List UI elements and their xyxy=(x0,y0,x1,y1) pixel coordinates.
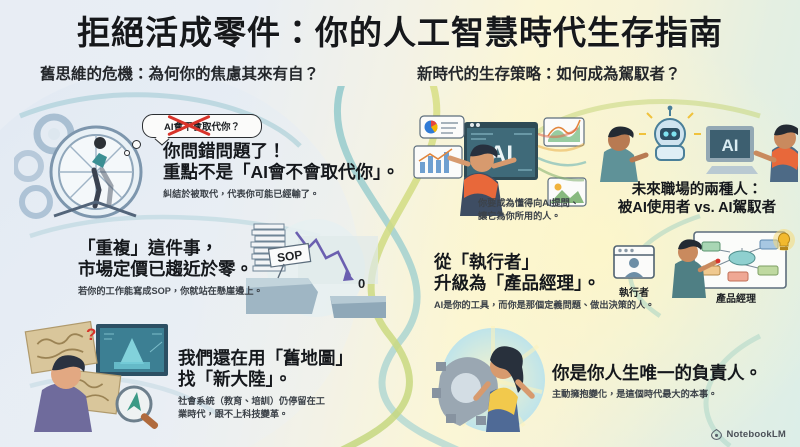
cross-out-mark-icon xyxy=(166,110,212,140)
left-block-1-headline-1: 你問錯問題了！ xyxy=(163,141,399,162)
robot-icon xyxy=(639,106,701,160)
header: 拒絕活成零件：你的人工智慧時代生存指南 舊思維的危機：為何你的焦慮其來有自？ 新… xyxy=(0,0,800,84)
notebooklm-logo-icon xyxy=(711,429,722,440)
infographic-page: 拒絕活成零件：你的人工智慧時代生存指南 舊思維的危機：為何你的焦慮其來有自？ 新… xyxy=(0,0,800,447)
illustration-old-maps-hologram: ? xyxy=(14,312,179,432)
mini-label-executor: 執行者 xyxy=(608,284,660,299)
footer-brand-label: NotebookLM xyxy=(726,429,786,440)
illustration-product-manager-flowchart xyxy=(672,228,796,298)
footer-brand: NotebookLM xyxy=(711,429,786,440)
page-title: 拒絕活成零件：你的人工智慧時代生存指南 xyxy=(0,16,800,49)
left-block-3-headline-1: 我們還在用「舊地圖」 xyxy=(178,348,353,369)
lightbulb-icon xyxy=(773,229,795,251)
chart-zero-label: 0 xyxy=(358,276,365,291)
left-block-3-caption-line-1: 社會系統（教育、培訓）仍停留在工 xyxy=(178,395,353,407)
illustration-cliff-sop-chart: 0 SOP xyxy=(246,218,386,318)
right-block-3-caption: AI是你的工具，而你是那個定義問題、做出決策的人。 xyxy=(434,299,655,311)
ai-screen-label-2: AI xyxy=(722,136,739,155)
subtitle-right: 新時代的生存策略：如何成為駕馭者？ xyxy=(417,62,681,84)
right-block-1-text: 你要成為懂得向AI提問、 讓它為你所用的人。 xyxy=(478,193,579,223)
left-block-1-caption: 糾結於被取代，代表你可能已經輸了。 xyxy=(163,188,399,200)
subtitle-row: 舊思維的危機：為何你的焦慮其來有自？ 新時代的生存策略：如何成為駕馭者？ xyxy=(0,62,800,84)
right-block-4-headline: 你是你人生唯一的負責人。 xyxy=(552,363,762,384)
left-block-1-headline-2: 重點不是「AI會不會取代你」。 xyxy=(163,162,399,183)
mini-label-product-manager: 產品經理 xyxy=(700,290,772,305)
right-block-1-caption-line-2: 讓它為你所用的人。 xyxy=(478,210,579,222)
right-block-2-headline-1: 未來職場的兩種人： xyxy=(601,182,793,200)
left-block-1-text: 你問錯問題了！ 重點不是「AI會不會取代你」。 糾結於被取代，代表你可能已經輸了… xyxy=(163,141,399,200)
right-block-2-text: 未來職場的兩種人： 被AI使用者 vs. AI駕馭者 xyxy=(601,182,793,217)
right-block-4-text: 你是你人生唯一的負責人。 主動擁抱變化，是這個時代最大的本事。 xyxy=(552,363,762,401)
left-block-3-caption-line-2: 業時代，跟不上科技變革。 xyxy=(178,408,353,420)
subtitle-left: 舊思維的危機：為何你的焦慮其來有自？ xyxy=(40,62,319,84)
magnifier-compass-icon xyxy=(117,387,159,430)
left-block-2-headline-2: 市場定價已趨近於零。 xyxy=(78,259,263,280)
right-block-4-caption: 主動擁抱變化，是這個時代最大的本事。 xyxy=(552,388,762,400)
left-block-3-text: 我們還在用「舊地圖」 找「新大陸」。 社會系統（教育、培訓）仍停留在工 業時代，… xyxy=(178,348,353,421)
question-mark-icon: ? xyxy=(86,325,96,344)
right-block-2-headline-2: 被AI使用者 vs. AI駕馭者 xyxy=(601,200,793,218)
illustration-woman-breaking-free xyxy=(432,322,554,440)
left-block-2-headline-1: 「重複」這件事， xyxy=(78,238,263,259)
left-block-3-headline-2: 找「新大陸」。 xyxy=(178,369,353,390)
left-block-2-caption: 若你的工作能寫成SOP，你就站在懸崖邊上。 xyxy=(78,285,263,297)
illustration-executor-window-icon xyxy=(612,244,656,282)
left-block-2-text: 「重複」這件事， 市場定價已趨近於零。 若你的工作能寫成SOP，你就站在懸崖邊上… xyxy=(78,238,263,297)
bubble-dot-small xyxy=(124,150,130,156)
bubble-dot-large xyxy=(132,140,141,149)
right-block-1-caption-line-1: 你要成為懂得向AI提問、 xyxy=(478,197,579,209)
illustration-two-types-of-people: AI xyxy=(586,104,798,182)
